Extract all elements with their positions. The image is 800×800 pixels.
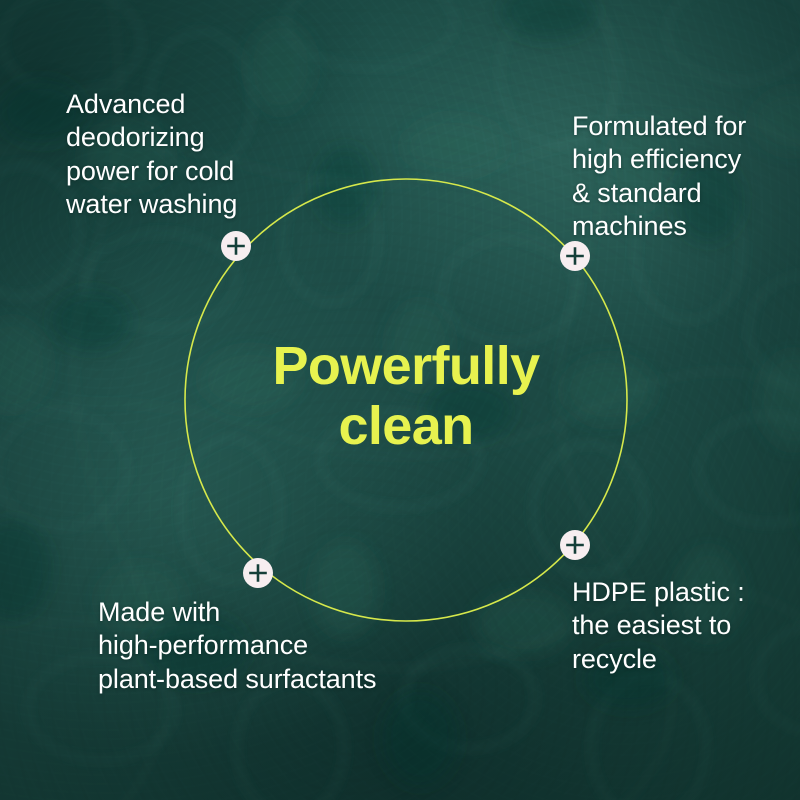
marker-bottom-right — [560, 530, 590, 560]
callout-advanced-deodorizing: Advanced deodorizing power for cold wate… — [66, 88, 326, 222]
callout-hdpe-plastic: HDPE plastic : the easiest to recycle — [572, 576, 798, 676]
callout-formulated-for-machines: Formulated for high efficiency & standar… — [572, 110, 800, 244]
marker-bottom-left — [243, 558, 273, 588]
callout-plant-based-surfactants: Made with high-performance plant-based s… — [98, 596, 438, 696]
marker-top-left — [221, 231, 251, 261]
marker-top-right — [560, 241, 590, 271]
center-title: Powerfully clean — [236, 336, 576, 457]
infographic-canvas: Powerfully clean Advanced deodorizing po… — [0, 0, 800, 800]
